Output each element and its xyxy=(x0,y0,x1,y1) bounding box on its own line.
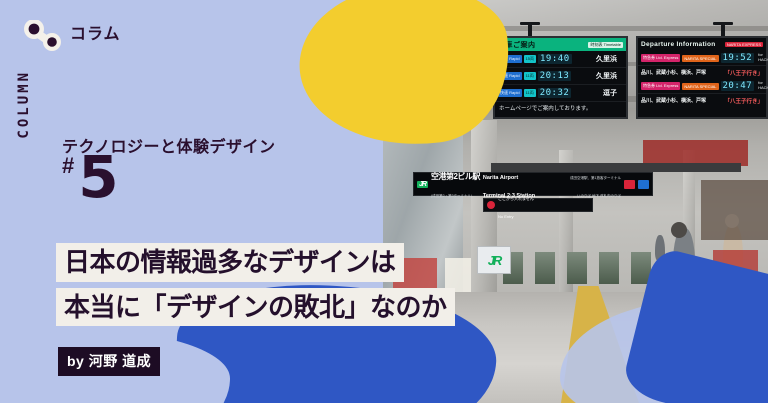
photo-ticket-gate xyxy=(567,252,587,284)
photo-traveller-head xyxy=(671,222,687,238)
no-entry-en: No Entry xyxy=(498,214,514,219)
departure-board-left: 発車ご案内 時刻表 Timetable 快速 Rapid 15両 19:40 久… xyxy=(493,36,628,119)
board-stops-row: 品川、武蔵小杉、横浜、戸塚 「八王子行き」 xyxy=(638,66,766,79)
info-icon xyxy=(638,180,649,189)
board-kind-en-tag: NARITA SPECIAL xyxy=(682,83,718,90)
board-time: 20:47 xyxy=(721,81,755,91)
board-time: 19:40 xyxy=(538,54,572,64)
board-platform-tag: 11両 xyxy=(524,89,536,97)
board-for-en: for HACHIOJI xyxy=(758,81,768,90)
board-kind-en-tag: NARITA SPECIAL xyxy=(682,55,718,62)
board-for-en: for HACHIOJI xyxy=(758,53,768,62)
column-kana-label: コラム xyxy=(70,20,121,44)
column-vertical-label: COLUMN xyxy=(16,70,32,139)
board-hanger xyxy=(721,22,725,36)
departure-board-right: Departure Information NARITA EXPRESS 特急券… xyxy=(636,36,768,119)
article-hero-banner: JR 発車ご案内 時刻表 Timetable 快速 Rapid 15両 19:4… xyxy=(0,0,768,403)
photo-ticket-gate xyxy=(599,252,619,284)
board-left-header: 発車ご案内 時刻表 Timetable xyxy=(495,38,626,51)
board-time: 20:13 xyxy=(538,71,572,81)
board-right-title: Departure Information xyxy=(641,41,716,48)
board-platform-tag: 15両 xyxy=(524,55,536,63)
board-line-tag: 快速 Rapid xyxy=(498,89,522,97)
board-kind-jp-tag: 特急券 Ltd. Express xyxy=(641,82,680,90)
board-row: 快速 Rapid 11両 20:32 逗子 xyxy=(495,85,626,102)
board-destination: 逗子 xyxy=(603,88,623,98)
board-stops: 品川、武蔵小杉、横浜、戸塚 xyxy=(641,97,706,104)
board-time: 19:52 xyxy=(721,53,755,63)
station-name-jp: 空港第2ビル駅 xyxy=(431,172,480,181)
photo-ticket-gate xyxy=(535,252,555,284)
board-right-chip: NARITA EXPRESS xyxy=(725,42,763,47)
jr-logo-text: JR xyxy=(488,253,501,268)
hash-symbol: # xyxy=(62,155,74,177)
board-destination: 久里浜 xyxy=(596,54,623,64)
board-row: 快速 Rapid 11両 20:13 久里浜 xyxy=(495,68,626,85)
board-hanger xyxy=(528,22,532,36)
issue-number: 5 xyxy=(78,155,118,200)
board-stops-row: 品川、武蔵小杉、横浜、戸塚 「八王子行き」 xyxy=(638,94,766,107)
station-name-jp-sub: (成田第2・第3ターミナル) xyxy=(431,194,472,198)
board-kind-jp-tag: 特急券 Ltd. Express xyxy=(641,54,680,62)
board-row: 特急券 Ltd. Express NARITA SPECIAL 20:47 fo… xyxy=(638,79,766,94)
no-entry-sign: ここから入れません No Entry xyxy=(483,198,593,212)
station-extra-line1: 成田空港駅、第1旅客ターミナル xyxy=(570,176,621,180)
board-destination-jp: 「八王子行き」 xyxy=(724,97,763,105)
title-line-1: 日本の情報過多なデザインは xyxy=(56,243,404,282)
article-number: # 5 xyxy=(62,155,119,200)
station-name-en-line1: Narita Airport xyxy=(483,175,518,181)
no-entry-icon xyxy=(624,180,635,189)
board-row: 特急券 Ltd. Express NARITA SPECIAL 19:52 fo… xyxy=(638,51,766,66)
article-title: 日本の情報過多なデザインは 本当に「デザインの敗北」なのか xyxy=(56,243,455,326)
board-platform-tag: 11両 xyxy=(524,72,536,80)
board-left-chip: 時刻表 Timetable xyxy=(588,42,623,48)
board-destination-jp: 「八王子行き」 xyxy=(724,69,763,77)
board-destination: 久里浜 xyxy=(596,71,623,81)
double-circle-link-icon xyxy=(20,20,70,52)
photo-pillar xyxy=(471,120,497,305)
no-entry-jp: ここから入れません xyxy=(498,196,534,201)
jr-logo-sign: JR xyxy=(477,246,511,274)
board-stops: 品川、武蔵小杉、横浜、戸塚 xyxy=(641,69,706,76)
title-line-2: 本当に「デザインの敗北」なのか xyxy=(56,288,455,327)
board-time: 20:32 xyxy=(538,88,572,98)
board-row: 快速 Rapid 15両 19:40 久里浜 xyxy=(495,51,626,68)
no-entry-circle-icon xyxy=(487,201,495,209)
board-left-footer: ホームページでご案内しております。 xyxy=(495,102,626,114)
photo-shop-front xyxy=(701,180,768,240)
author-byline: by 河野 道成 xyxy=(58,347,160,376)
jr-logo-icon: JR xyxy=(417,181,428,188)
board-right-header: Departure Information NARITA EXPRESS xyxy=(638,38,766,51)
